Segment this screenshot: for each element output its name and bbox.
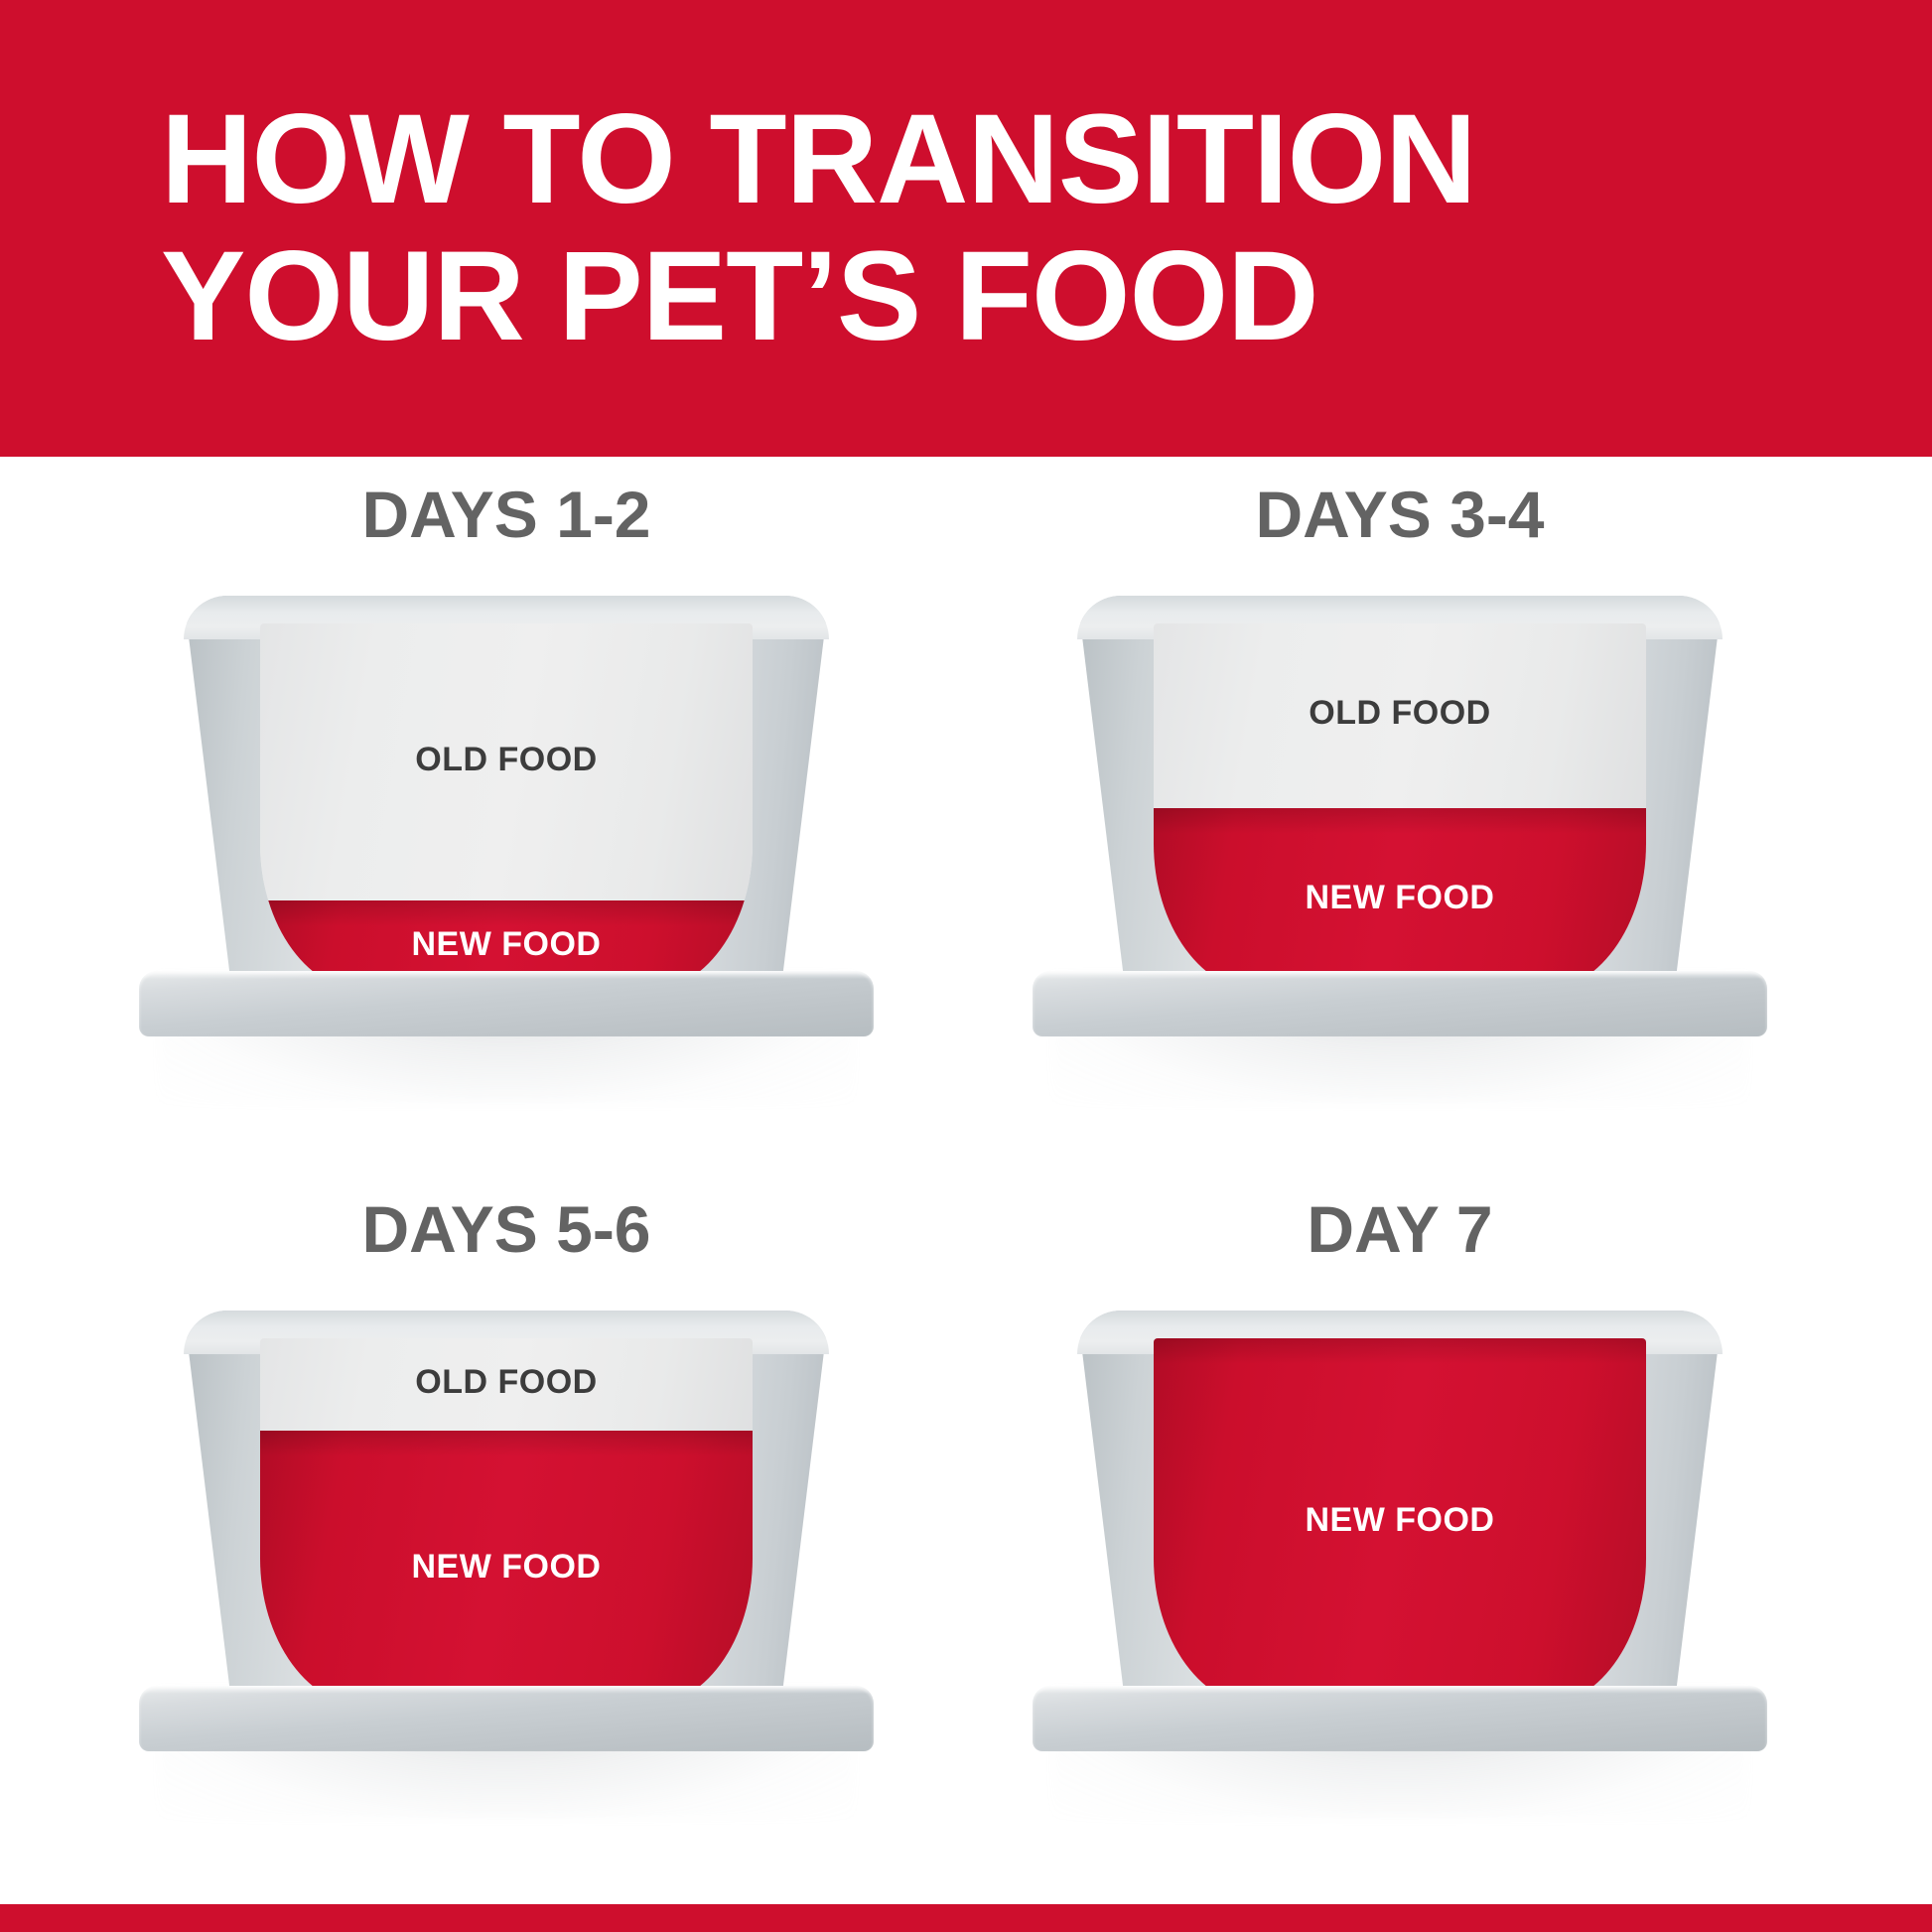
footer-accent-strip	[0, 1904, 1932, 1932]
food-cavity: OLD FOOD NEW FOOD	[1154, 623, 1646, 993]
old-food-fill: OLD FOOD	[260, 1338, 753, 1431]
page-title-line-1: HOW TO TRANSITION	[161, 91, 1476, 228]
old-food-fill: OLD FOOD	[1154, 623, 1646, 808]
header-banner: HOW TO TRANSITION YOUR PET’S FOOD	[0, 0, 1932, 457]
new-food-fill: NEW FOOD	[1154, 1338, 1646, 1708]
bowl-base-plate	[139, 971, 874, 1036]
bowl-base-plate	[139, 1686, 874, 1751]
old-food-fill: OLD FOOD	[260, 623, 753, 900]
food-cavity: OLD FOOD NEW FOOD	[260, 623, 753, 993]
step-title-days-1-2: DAYS 1-2	[60, 477, 953, 552]
step-card-day-7: DAY 7 NEW FOOD	[953, 1191, 1847, 1886]
old-food-label: OLD FOOD	[1154, 694, 1646, 733]
new-food-fill: NEW FOOD	[260, 1431, 753, 1708]
bowl-days-3-4: OLD FOOD NEW FOOD	[1023, 596, 1777, 1052]
bowl-base-plate	[1033, 1686, 1767, 1751]
food-cavity: NEW FOOD	[1154, 1338, 1646, 1708]
old-food-label: OLD FOOD	[260, 741, 753, 779]
step-card-days-1-2: DAYS 1-2 OLD FOOD NEW FOOD	[60, 477, 953, 1172]
infographic-body: DAYS 1-2 OLD FOOD NEW FOOD DAYS 3-4	[0, 457, 1932, 1904]
new-food-label: NEW FOOD	[1154, 1501, 1646, 1540]
page-title-line-2: YOUR PET’S FOOD	[161, 228, 1318, 365]
bowl-days-5-6: OLD FOOD NEW FOOD	[129, 1311, 884, 1767]
new-food-label: NEW FOOD	[260, 1548, 753, 1587]
old-food-label: OLD FOOD	[260, 1363, 753, 1402]
new-food-fill: NEW FOOD	[1154, 808, 1646, 993]
step-title-days-5-6: DAYS 5-6	[60, 1191, 953, 1267]
food-cavity: OLD FOOD NEW FOOD	[260, 1338, 753, 1708]
bowl-day-7: NEW FOOD	[1023, 1311, 1777, 1767]
step-title-days-3-4: DAYS 3-4	[953, 477, 1847, 552]
bowl-days-1-2: OLD FOOD NEW FOOD	[129, 596, 884, 1052]
steps-grid: DAYS 1-2 OLD FOOD NEW FOOD DAYS 3-4	[0, 457, 1932, 1904]
new-food-label: NEW FOOD	[1154, 879, 1646, 917]
new-food-label: NEW FOOD	[260, 925, 753, 964]
bowl-base-plate	[1033, 971, 1767, 1036]
step-title-day-7: DAY 7	[953, 1191, 1847, 1267]
step-card-days-5-6: DAYS 5-6 OLD FOOD NEW FOOD	[60, 1191, 953, 1886]
step-card-days-3-4: DAYS 3-4 OLD FOOD NEW FOOD	[953, 477, 1847, 1172]
